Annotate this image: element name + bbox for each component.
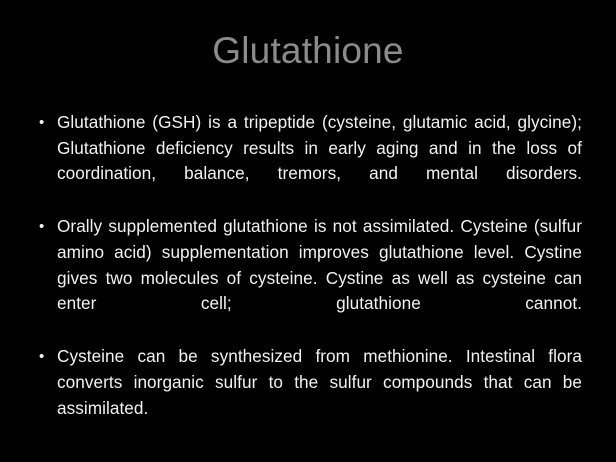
- list-item: • Glutathione (GSH) is a tripeptide (cys…: [36, 110, 582, 212]
- bullet-point-icon: •: [39, 110, 53, 136]
- page-title: Glutathione: [0, 28, 616, 74]
- list-item-text: Orally supplemented glutathione is not a…: [57, 214, 582, 342]
- presentation-slide: Glutathione • Glutathione (GSH) is a tri…: [0, 0, 616, 462]
- list-item-text: Cysteine can be synthesized from methion…: [57, 344, 582, 446]
- list-item-text: Glutathione (GSH) is a tripeptide (cyste…: [57, 110, 582, 212]
- list-item: • Cysteine can be synthesized from methi…: [36, 344, 582, 446]
- bullet-point-icon: •: [39, 214, 53, 240]
- list-item: • Orally supplemented glutathione is not…: [36, 214, 582, 342]
- bullet-list: • Glutathione (GSH) is a tripeptide (cys…: [36, 110, 582, 447]
- bullet-point-icon: •: [39, 344, 53, 370]
